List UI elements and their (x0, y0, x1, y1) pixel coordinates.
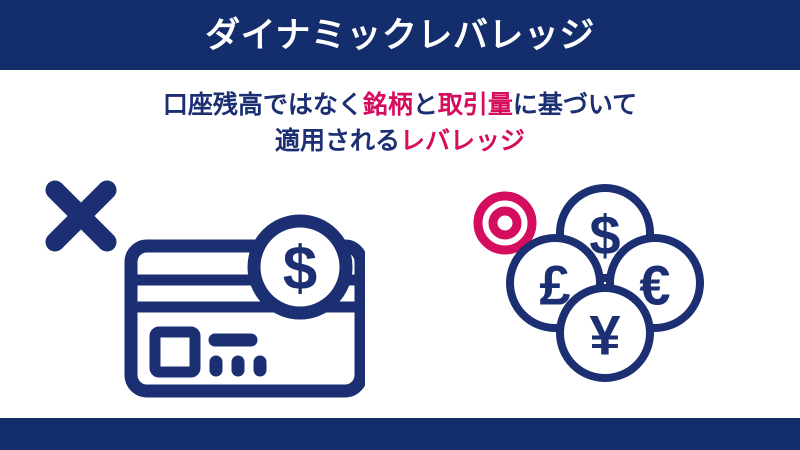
dollar-coin-icon: $ (254, 221, 346, 313)
subtitle-segment-emphasis-1: 銘柄 (363, 91, 413, 119)
subtitle-segment-plain-3: に基づいて (513, 91, 637, 119)
subtitle-segment-plain-4: 適用される (275, 127, 400, 155)
card-chip-icon (155, 332, 195, 372)
subtitle-line-2: 適用されるレバレッジ (0, 124, 800, 160)
page-title: ダイナミックレバレッジ (205, 18, 595, 53)
subtitle-segment-plain-2: と (413, 91, 438, 119)
header-bar: ダイナミックレバレッジ (0, 0, 800, 70)
coin-symbol-yen: ¥ (589, 304, 620, 367)
circle-maru-icon (478, 196, 532, 250)
subtitle-segment-plain-1: 口座残高ではなく (163, 91, 363, 119)
dollar-symbol: $ (283, 235, 317, 304)
cross-x-icon (55, 190, 107, 242)
artwork-area: $ $ (0, 165, 800, 415)
left-illustration-group: $ (35, 170, 365, 400)
footer-bar (0, 418, 800, 450)
subtitle-segment-emphasis-2: 取引量 (438, 91, 513, 119)
subtitle-line-1: 口座残高ではなく銘柄と取引量に基づいて (0, 88, 800, 124)
infographic-slide: ダイナミックレバレッジ 口座残高ではなく銘柄と取引量に基づいて 適用されるレバレ… (0, 0, 800, 450)
subtitle-segment-emphasis-3: レバレッジ (400, 127, 525, 155)
coin-yen: ¥ (560, 288, 650, 378)
currency-coins-cluster-icon: $ £ € ¥ (510, 188, 700, 378)
subtitle-block: 口座残高ではなく銘柄と取引量に基づいて 適用されるレバレッジ (0, 88, 800, 159)
right-illustration-group: $ £ € ¥ (455, 175, 705, 390)
